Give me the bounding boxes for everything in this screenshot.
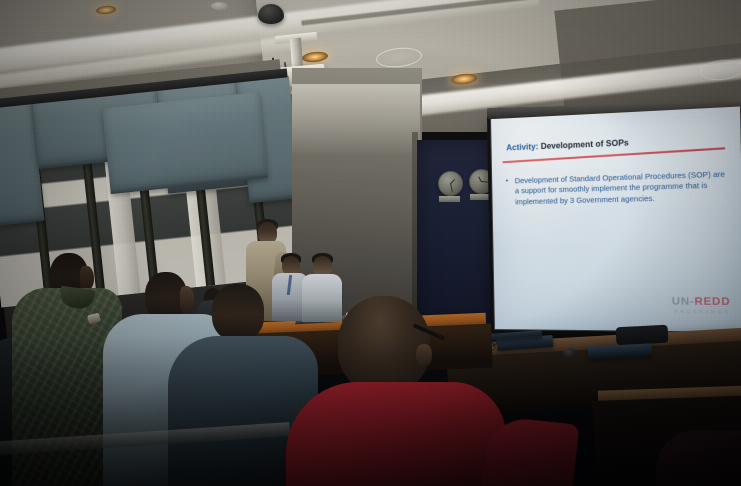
smoke-detector-icon — [211, 2, 228, 10]
logo-subtitle: PROGRAMME — [672, 309, 731, 315]
blue-shirt-person-face — [180, 286, 194, 312]
seated-attendee-b — [302, 274, 342, 322]
clock-label-left — [439, 196, 460, 202]
slide-bullet-item: Development of Standard Operational Proc… — [506, 169, 729, 208]
slide-title-rest: Development of SOPs — [538, 138, 628, 151]
logo-wordmark: UN-REDD — [672, 295, 731, 308]
clock-minute-hand — [450, 183, 453, 192]
conference-room-photo: Activity: Development of SOPs Developmen… — [0, 0, 741, 486]
logo-redd: REDD — [694, 295, 730, 308]
slide-bullet-text: Development of Standard Operational Proc… — [515, 169, 729, 208]
green-shirt-person-face — [80, 266, 94, 290]
roller-blind-main[interactable] — [102, 92, 268, 194]
wall-clock-left — [438, 171, 463, 196]
center-person-head — [212, 284, 264, 340]
bullet-dot-icon — [506, 179, 508, 181]
un-redd-logo: UN-REDD PROGRAMME — [672, 295, 731, 314]
slide-title-keyword: Activity: — [506, 142, 538, 152]
red-shirt-person — [286, 382, 506, 486]
projected-slide: Activity: Development of SOPs Developmen… — [491, 107, 741, 332]
slide-title: Activity: Development of SOPs — [506, 138, 629, 152]
back-wall-highlight — [292, 84, 420, 156]
red-shirt-person-ear — [416, 344, 432, 366]
dome-security-camera-icon — [258, 4, 284, 24]
chair-backrest — [616, 325, 669, 346]
red-shirt-person-head — [338, 296, 430, 392]
logo-un: UN- — [672, 295, 695, 308]
